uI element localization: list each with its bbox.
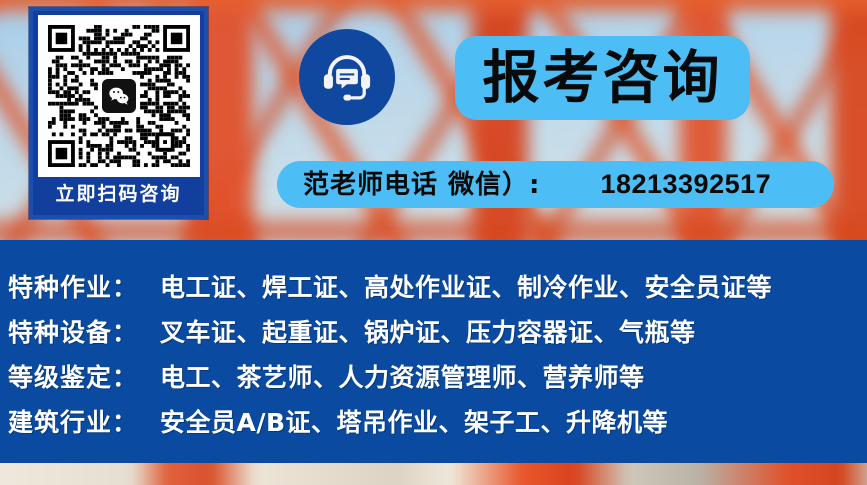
info-row-category: 建筑行业： <box>8 403 160 439</box>
info-row-items: 电工证、焊工证、高处作业证、制冷作业、安全员证等 <box>160 268 772 304</box>
title-text: 报考咨询 <box>483 50 723 107</box>
wechat-icon <box>102 79 136 113</box>
headset-support-icon <box>299 29 395 125</box>
info-row-category: 特种设备： <box>8 313 160 349</box>
info-row-items: 安全员A/B证、塔吊作业、架子工、升降机等 <box>160 403 668 439</box>
info-row-category: 等级鉴定： <box>8 358 160 394</box>
info-row: 建筑行业： 安全员A/B证、塔吊作业、架子工、升降机等 <box>8 403 867 448</box>
info-row-items: 叉车证、起重证、锅炉证、压力容器证、气瓶等 <box>160 313 696 349</box>
title-pill: 报考咨询 <box>455 36 750 120</box>
contact-pill[interactable]: 范老师电话 微信）: 18213392517 <box>277 161 834 208</box>
bottom-photo-strip-blur <box>0 463 867 485</box>
info-row-category: 特种作业： <box>8 268 160 304</box>
contact-phone-number[interactable]: 18213392517 <box>600 171 771 198</box>
contact-label: 范老师电话 微信）: <box>303 172 540 198</box>
info-row: 等级鉴定： 电工、茶艺师、人力资源管理师、营养师等 <box>8 358 867 403</box>
info-row: 特种设备： 叉车证、起重证、锅炉证、压力容器证、气瓶等 <box>8 313 867 358</box>
info-row: 特种作业： 电工证、焊工证、高处作业证、制冷作业、安全员证等 <box>8 268 867 313</box>
certificate-list-panel: 特种作业： 电工证、焊工证、高处作业证、制冷作业、安全员证等 特种设备： 叉车证… <box>0 240 867 468</box>
bottom-photo-strip <box>0 463 867 485</box>
qr-code-card[interactable]: 立即扫码咨询 <box>29 7 208 219</box>
promo-banner: 立即扫码咨询 报考咨询 范老师电话 微信）: 18213392517 特种作业：… <box>0 0 867 485</box>
qr-code-surface[interactable] <box>38 15 200 177</box>
qr-code-matrix <box>48 25 190 167</box>
qr-caption: 立即扫码咨询 <box>55 185 181 204</box>
info-row-items: 电工、茶艺师、人力资源管理师、营养师等 <box>160 358 645 394</box>
